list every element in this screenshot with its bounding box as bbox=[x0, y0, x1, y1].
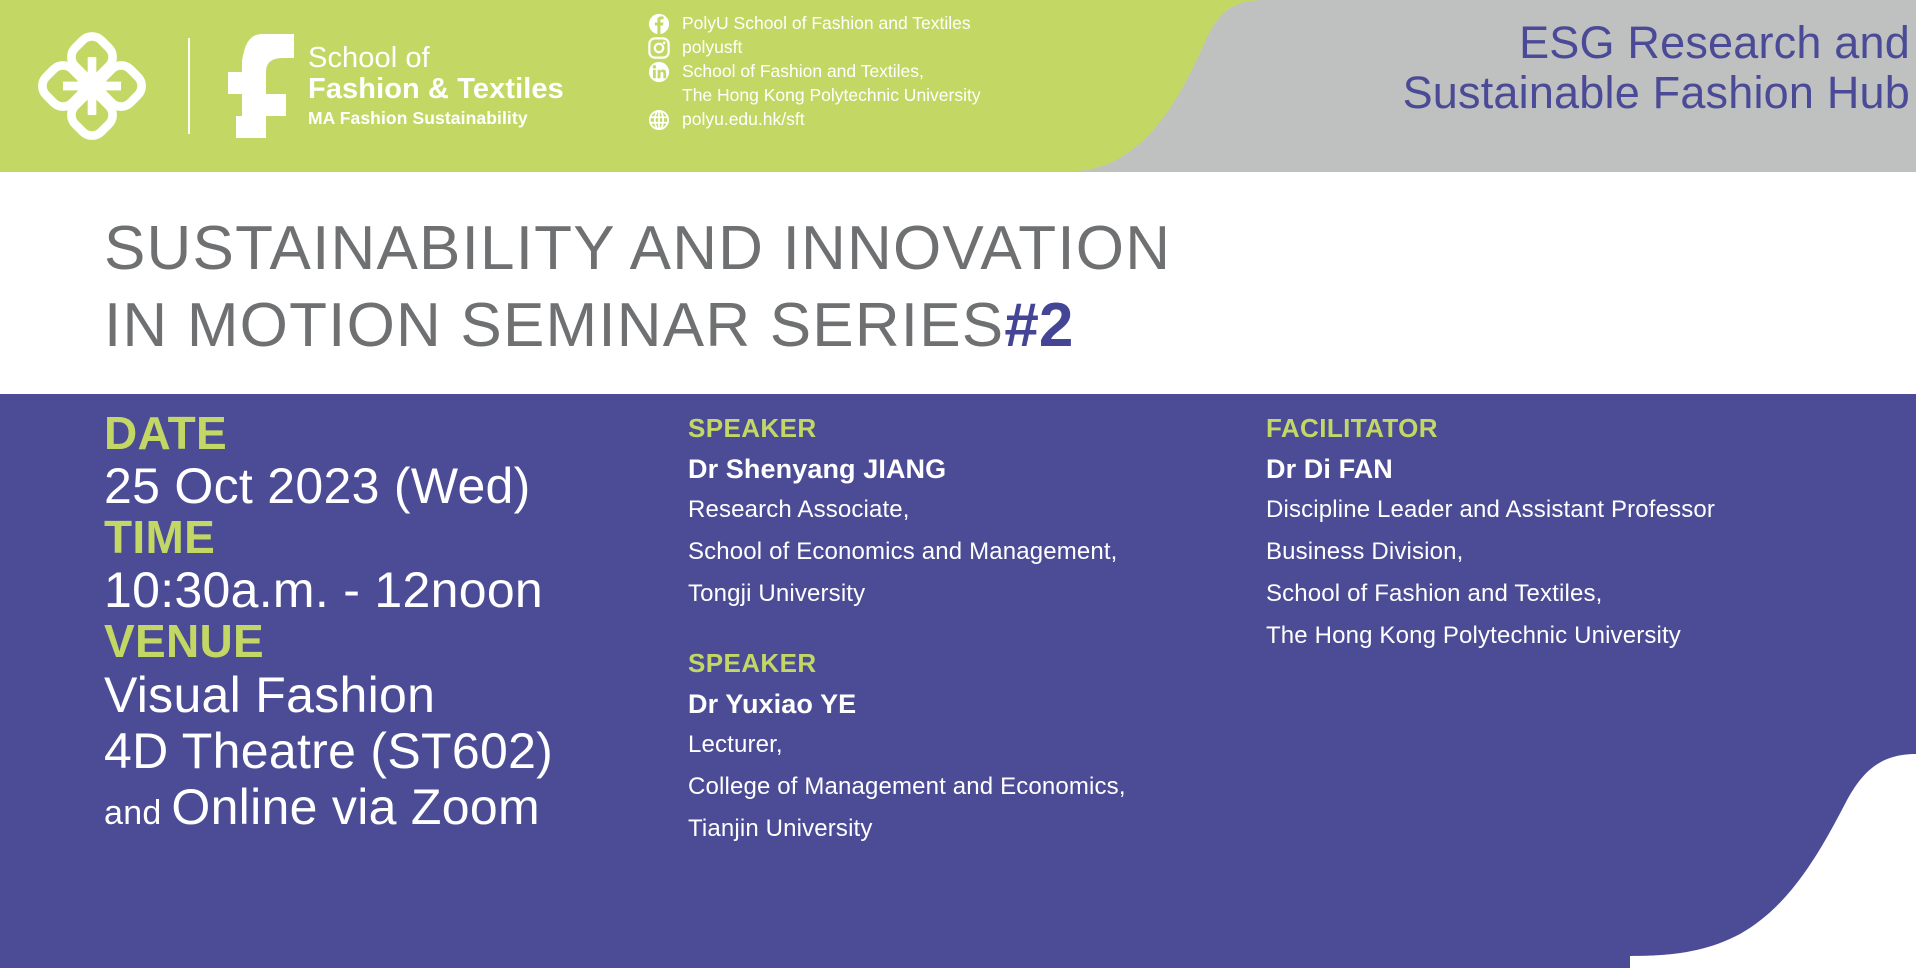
seminar-title-line2: IN MOTION SEMINAR SERIES bbox=[104, 291, 1004, 360]
speaker-2-affiliation-line2: College of Management and Economics, bbox=[688, 768, 1258, 805]
facilitator-name: Dr Di FAN bbox=[1266, 453, 1866, 485]
venue-line3-rest: Online via Zoom bbox=[171, 779, 540, 835]
esg-hub-title-line1: ESG Research and bbox=[1150, 18, 1910, 68]
facilitator-affiliation-line2: Business Division, bbox=[1266, 533, 1866, 570]
facebook-icon bbox=[648, 13, 670, 35]
facilitator-affiliation-line4: The Hong Kong Polytechnic University bbox=[1266, 617, 1866, 654]
contact-row-facebook[interactable]: PolyU School of Fashion and Textiles bbox=[648, 12, 1078, 36]
venue-label: VENUE bbox=[104, 618, 664, 666]
column-date-time-venue: DATE 25 Oct 2023 (Wed) TIME 10:30a.m. - … bbox=[104, 410, 664, 835]
contact-text-linkedin: School of Fashion and Textiles, bbox=[682, 60, 924, 82]
contact-text-instagram: polyusft bbox=[682, 36, 742, 58]
logo-line-programme: MA Fashion Sustainability bbox=[308, 110, 564, 128]
globe-icon bbox=[648, 109, 670, 131]
logo-line-school-of: School of bbox=[308, 44, 564, 73]
seminar-issue-number: #2 bbox=[1004, 291, 1073, 360]
contact-text-website: polyu.edu.hk/sft bbox=[682, 108, 805, 130]
speaker-1-affiliation-line2: School of Economics and Management, bbox=[688, 533, 1258, 570]
column-speakers: SPEAKER Dr Shenyang JIANG Research Assoc… bbox=[688, 413, 1258, 847]
speaker-1-label: SPEAKER bbox=[688, 413, 1258, 444]
speaker-2-label: SPEAKER bbox=[688, 648, 1258, 679]
speaker-block-2: SPEAKER Dr Yuxiao YE Lecturer, College o… bbox=[688, 648, 1258, 847]
speaker-1-affiliation-line1: Research Associate, bbox=[688, 491, 1258, 528]
linkedin-icon bbox=[648, 61, 670, 83]
details-columns: DATE 25 Oct 2023 (Wed) TIME 10:30a.m. - … bbox=[0, 394, 1916, 968]
contact-row-website[interactable]: polyu.edu.hk/sft bbox=[648, 108, 1078, 132]
speaker-2-affiliation-line3: Tianjin University bbox=[688, 810, 1258, 847]
speaker-1-name: Dr Shenyang JIANG bbox=[688, 453, 1258, 485]
instagram-icon bbox=[648, 37, 670, 59]
venue-line2: 4D Theatre (ST602) bbox=[104, 723, 664, 779]
seminar-poster: School of Fashion & Textiles MA Fashion … bbox=[0, 0, 1916, 968]
esg-hub-title-line2: Sustainable Fashion Hub bbox=[1150, 68, 1910, 118]
venue-line3: and Online via Zoom bbox=[104, 779, 664, 835]
venue-line3-prefix: and bbox=[104, 794, 171, 832]
seminar-title-line2-row: IN MOTION SEMINAR SERIES#2 bbox=[104, 295, 1404, 357]
date-label: DATE bbox=[104, 410, 664, 458]
speaker-2-affiliation-line1: Lecturer, bbox=[688, 726, 1258, 763]
polyu-knot-icon bbox=[38, 32, 146, 140]
facilitator-label: FACILITATOR bbox=[1266, 413, 1866, 444]
facilitator-affiliation-line3: School of Fashion and Textiles, bbox=[1266, 575, 1866, 612]
brand-logo-lockup: School of Fashion & Textiles MA Fashion … bbox=[38, 22, 618, 150]
venue-line1: Visual Fashion bbox=[104, 667, 664, 723]
contact-row-linkedin-continuation: The Hong Kong Polytechnic University bbox=[648, 84, 1078, 108]
time-value: 10:30a.m. - 12noon bbox=[104, 562, 664, 618]
time-label: TIME bbox=[104, 514, 664, 562]
contact-text-facebook: PolyU School of Fashion and Textiles bbox=[682, 12, 971, 34]
logo-line-fashion-textiles: Fashion & Textiles bbox=[308, 75, 564, 104]
contact-list: PolyU School of Fashion and Textiles pol… bbox=[648, 12, 1078, 132]
contact-row-linkedin[interactable]: School of Fashion and Textiles, bbox=[648, 60, 1078, 84]
speaker-1-affiliation-line3: Tongji University bbox=[688, 575, 1258, 612]
seminar-title-line1: SUSTAINABILITY AND INNOVATION bbox=[104, 218, 1404, 280]
contact-row-instagram[interactable]: polyusft bbox=[648, 36, 1078, 60]
contact-text-linkedin-line2: The Hong Kong Polytechnic University bbox=[682, 84, 981, 106]
sft-f-mark-icon bbox=[228, 34, 294, 138]
date-value: 25 Oct 2023 (Wed) bbox=[104, 458, 664, 514]
logo-divider bbox=[188, 38, 190, 134]
speaker-block-1: SPEAKER Dr Shenyang JIANG Research Assoc… bbox=[688, 413, 1258, 612]
column-facilitator: FACILITATOR Dr Di FAN Discipline Leader … bbox=[1266, 413, 1866, 654]
facilitator-affiliation-line1: Discipline Leader and Assistant Professo… bbox=[1266, 491, 1866, 528]
esg-hub-title: ESG Research and Sustainable Fashion Hub bbox=[1150, 18, 1910, 119]
seminar-title: SUSTAINABILITY AND INNOVATION IN MOTION … bbox=[104, 218, 1404, 357]
poster-header: School of Fashion & Textiles MA Fashion … bbox=[0, 0, 1916, 172]
speaker-2-name: Dr Yuxiao YE bbox=[688, 688, 1258, 720]
